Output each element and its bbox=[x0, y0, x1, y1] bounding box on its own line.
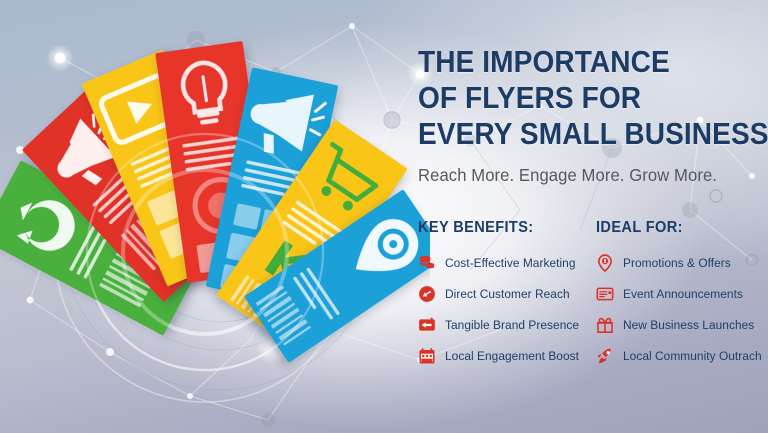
list-item-label: Promotions & Offers bbox=[623, 256, 731, 270]
benefit-columns: KEY BENEFITS: Cost-Effecti bbox=[418, 219, 758, 375]
location-pin-icon bbox=[596, 254, 614, 272]
list-item[interactable]: Local Community Outrach bbox=[596, 344, 756, 368]
list-item[interactable]: Promotions & Offers bbox=[596, 251, 756, 275]
headline-line-2: OF FLYERS FOR bbox=[418, 80, 731, 116]
list-item-label: Local Community Outrach bbox=[623, 349, 762, 363]
key-benefits-title: KEY BENEFITS: bbox=[418, 219, 585, 237]
ideal-for-column: IDEAL FOR: Promotions & Offers bbox=[596, 219, 756, 375]
rocket-icon bbox=[596, 347, 614, 365]
gift-box-icon bbox=[596, 316, 614, 334]
page-title: THE IMPORTANCE OF FLYERS FOR EVERY SMALL… bbox=[418, 44, 758, 152]
tag-label-icon bbox=[418, 316, 436, 334]
headline-line-3: EVERY SMALL BUSINESS bbox=[418, 116, 731, 152]
list-item[interactable]: Local Engagement Boost bbox=[418, 344, 596, 368]
key-benefits-column: KEY BENEFITS: Cost-Effecti bbox=[418, 219, 596, 375]
list-item[interactable]: Cost-Effective Marketing bbox=[418, 251, 596, 275]
list-item-label: Event Announcements bbox=[623, 287, 743, 301]
list-item-label: New Business Launches bbox=[623, 318, 754, 332]
subheadline: Reach More. Engage More. Grow More. bbox=[418, 165, 741, 186]
poster-canvas: THE IMPORTANCE OF FLYERS FOR EVERY SMALL… bbox=[0, 0, 768, 433]
list-item[interactable]: Tangible Brand Presence bbox=[418, 313, 596, 337]
list-item[interactable]: Event Announcements bbox=[596, 282, 756, 306]
fan-of-flyers-illustration bbox=[0, 0, 430, 433]
ideal-for-title: IDEAL FOR: bbox=[596, 219, 746, 237]
calendar-icon bbox=[418, 347, 436, 365]
key-benefits-list: Cost-Effective Marketing Direct Customer… bbox=[418, 251, 596, 368]
list-item[interactable]: Direct Customer Reach bbox=[418, 282, 596, 306]
headline-line-1: THE IMPORTANCE bbox=[418, 44, 731, 80]
ideal-for-list: Promotions & Offers Event Announcements bbox=[596, 251, 756, 368]
reply-arrow-circle-icon bbox=[418, 285, 436, 303]
coins-icon bbox=[418, 254, 436, 272]
list-item-label: Tangible Brand Presence bbox=[445, 318, 579, 332]
announcement-card-icon bbox=[596, 285, 614, 303]
list-item-label: Cost-Effective Marketing bbox=[445, 256, 576, 270]
text-content-column: THE IMPORTANCE OF FLYERS FOR EVERY SMALL… bbox=[418, 44, 758, 404]
list-item-label: Direct Customer Reach bbox=[445, 287, 570, 301]
list-item[interactable]: New Business Launches bbox=[596, 313, 756, 337]
list-item-label: Local Engagement Boost bbox=[445, 349, 579, 363]
